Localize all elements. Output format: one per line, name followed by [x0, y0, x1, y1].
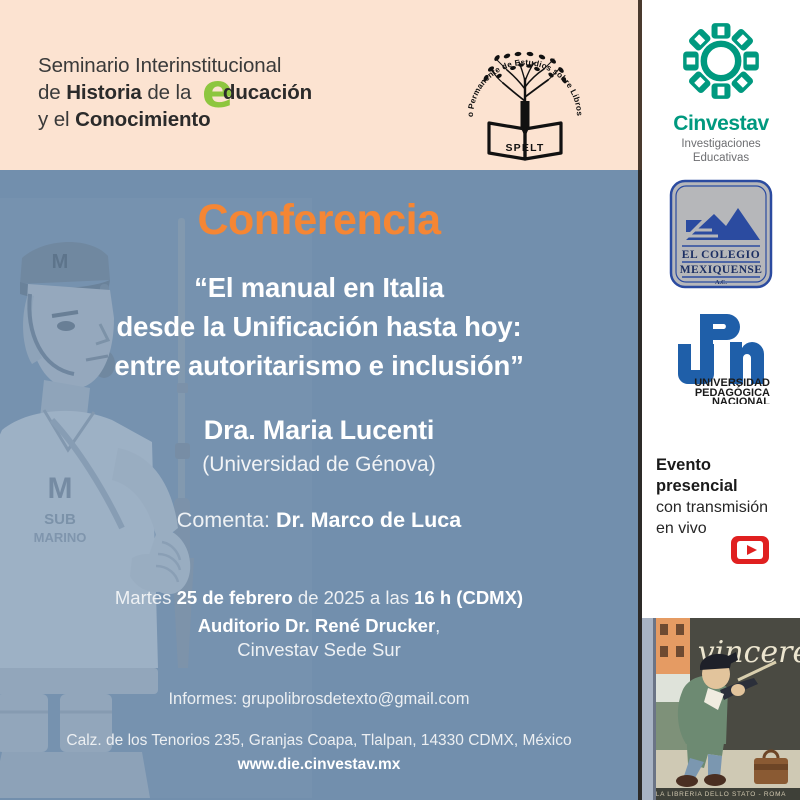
svg-text:SPELT: SPELT	[505, 142, 544, 154]
seminar-title-line-2: de Historia de la ducación	[38, 79, 418, 106]
poster: Seminario Interinstitucional de Historia…	[0, 0, 800, 800]
seminar-title: Seminario Interinstitucional de Historia…	[38, 52, 418, 133]
talk-title: “El manual en Italia desde la Unificació…	[0, 268, 638, 385]
main-body: M	[0, 170, 638, 800]
svg-text:EL COLEGIO: EL COLEGIO	[682, 249, 761, 261]
commentator: Comenta: Dr. Marco de Luca	[0, 508, 638, 533]
seminar-line2-prefix: de	[38, 81, 66, 104]
spelt-logo: Seminario Permanente de Estudios sobre L…	[455, 25, 595, 165]
cinvestav-logo: Cinvestav Investigaciones Educativas	[642, 18, 800, 165]
when-date: 25 de febrero	[177, 587, 293, 608]
when-time: 16 h (CDMX)	[414, 587, 523, 608]
speaker-affiliation: (Universidad de Génova)	[0, 453, 638, 477]
website-link[interactable]: www.die.cinvestav.mx	[0, 756, 638, 774]
talk-title-line-1: “El manual en Italia	[0, 268, 638, 307]
contact-email-line[interactable]: Informes: grupolibrosdetexto@gmail.com	[0, 690, 638, 709]
event-mode-line-3: con transmisión	[656, 497, 800, 518]
kicker-conferencia: Conferencia	[0, 196, 638, 245]
event-mode-bold-line-1: Evento	[656, 455, 800, 476]
venue-name: Auditorio Dr. René Drucker	[198, 615, 435, 636]
colegio-mexiquense-logo: EL COLEGIO MEXIQUENSE A.C.	[668, 178, 774, 295]
cinvestav-subtitle-line-2: Educativas	[642, 151, 800, 165]
svg-text:Seminario Permanente de Estudi: Seminario Permanente de Estudios sobre L…	[455, 25, 584, 117]
talk-title-line-3: entre autoritarismo e inclusión”	[0, 346, 638, 385]
commentator-name: Dr. Marco de Luca	[276, 508, 461, 532]
seminar-line3-prefix: y el	[38, 108, 75, 131]
commentator-label: Comenta:	[177, 508, 276, 532]
header-band: Seminario Interinstitucional de Historia…	[0, 0, 638, 170]
main-content: Conferencia “El manual en Italia desde l…	[0, 170, 638, 800]
upn-logo: UNIVERSIDAD PEDAGÓGICA NACIONAL	[670, 308, 772, 409]
seminar-title-line-3: y el Conocimiento	[38, 106, 418, 133]
svg-text:A.C.: A.C.	[715, 280, 727, 286]
seminar-line2-middle: de la	[142, 81, 197, 104]
when-middle: de 2025 a las	[293, 587, 414, 608]
event-venue-campus: Cinvestav Sede Sur	[0, 639, 638, 661]
seminar-title-line-1: Seminario Interinstitucional	[38, 52, 418, 79]
cinvestav-subtitle-line-1: Investigaciones	[642, 137, 800, 151]
event-mode-bold-line-2: presencial	[656, 476, 800, 497]
postal-address: Calz. de los Tenorios 235, Granjas Coapa…	[0, 732, 638, 750]
poster-right-sidebar: Cinvestav Investigaciones Educativas EL …	[642, 0, 800, 800]
svg-text:MEXIQUENSE: MEXIQUENSE	[680, 264, 763, 276]
cinvestav-wordmark: Cinvestav	[642, 112, 800, 136]
event-mode-block: Evento presencial con transmisión en viv…	[656, 455, 800, 539]
poster-left-column: Seminario Interinstitucional de Historia…	[0, 0, 638, 800]
seminar-line2-bold-ducacion: ducación	[223, 81, 312, 104]
book-caption-text: LA LIBRERIA DELLO STATO - ROMA	[656, 791, 786, 798]
cinvestav-subtitle: Investigaciones Educativas	[642, 137, 800, 165]
seminar-line2-bold-historia: Historia	[66, 81, 142, 104]
upn-line-3: NACIONAL	[712, 396, 770, 404]
venue-comma: ,	[435, 615, 440, 636]
event-venue: Auditorio Dr. René Drucker,	[0, 613, 638, 639]
youtube-icon[interactable]	[730, 535, 770, 565]
seminar-line3-bold-conocimiento: Conocimiento	[75, 108, 210, 131]
event-datetime: Martes 25 de febrero de 2025 a las 16 h …	[0, 585, 638, 611]
event-mode-line-4: en vivo	[656, 518, 800, 539]
when-prefix: Martes	[115, 587, 177, 608]
book-cover-image: vincere	[642, 618, 800, 800]
speaker-name: Dra. Maria Lucenti	[0, 415, 638, 446]
cinvestav-mark-icon	[678, 18, 764, 104]
talk-title-line-2: desde la Unificación hasta hoy:	[0, 307, 638, 346]
